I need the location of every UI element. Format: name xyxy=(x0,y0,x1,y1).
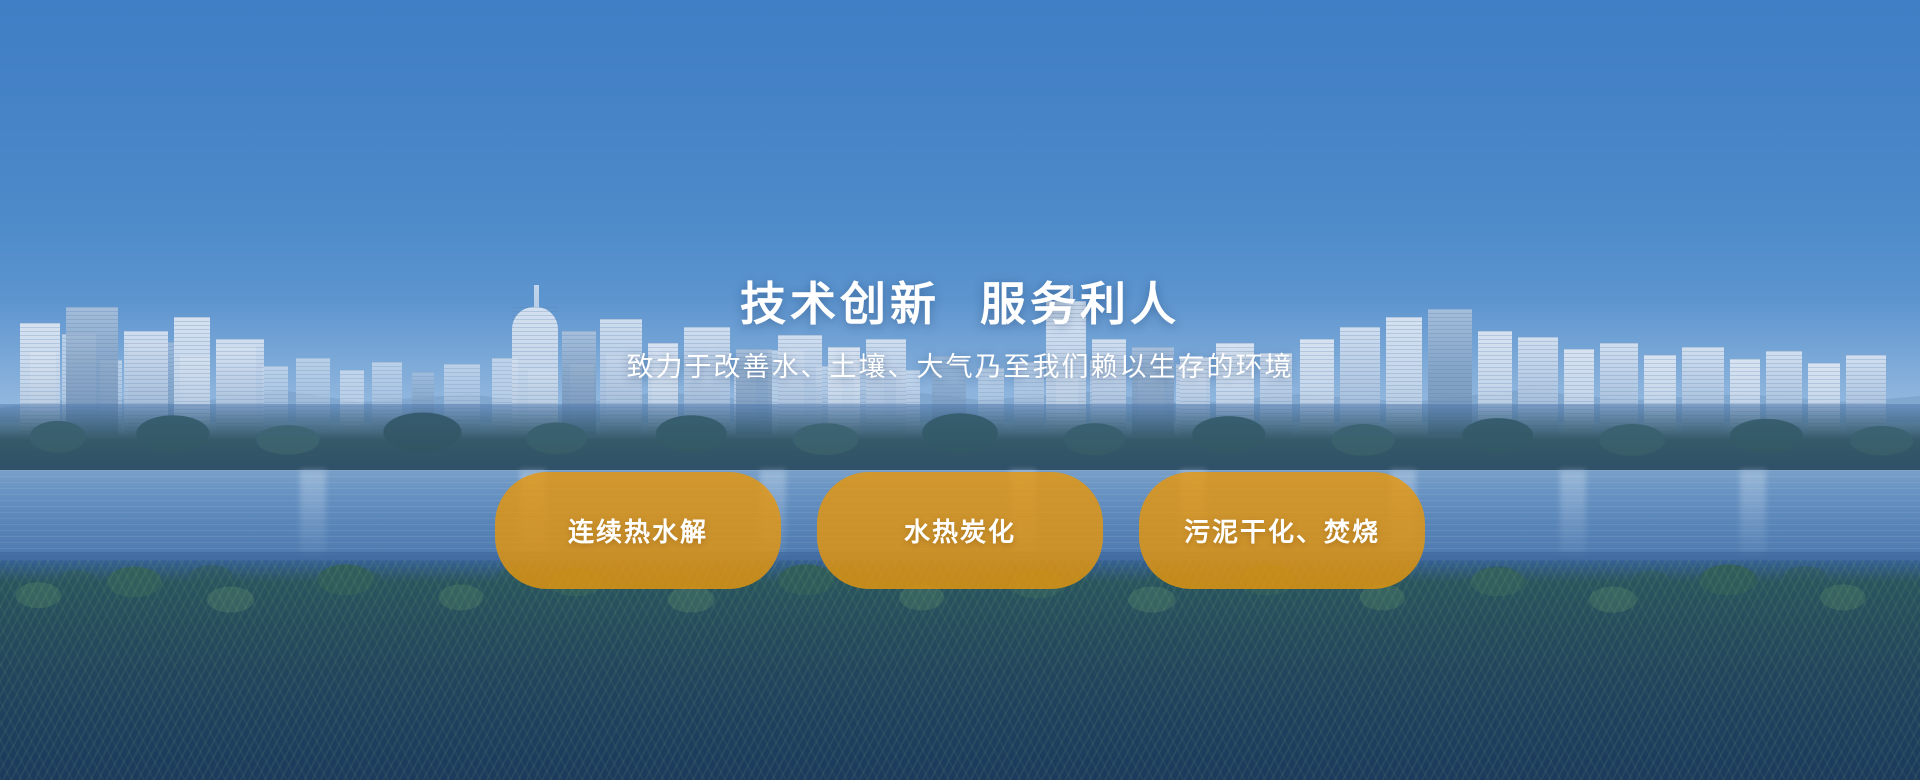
hero-title: 技术创新 服务利人 xyxy=(0,268,1920,334)
hero-content: 技术创新 服务利人 致力于改善水、土壤、大气乃至我们赖以生存的环境 连续热水解 … xyxy=(0,0,1920,780)
button-continuous-thermal-hydrolysis[interactable]: 连续热水解 xyxy=(495,472,781,589)
hero-subtitle: 致力于改善水、土壤、大气乃至我们赖以生存的环境 xyxy=(0,345,1920,384)
button-sludge-drying-incineration[interactable]: 污泥干化、焚烧 xyxy=(1139,472,1425,589)
hero-button-row: 连续热水解 水热炭化 污泥干化、焚烧 xyxy=(0,472,1920,589)
button-hydrothermal-carbonization[interactable]: 水热炭化 xyxy=(817,472,1103,589)
hero-banner: 技术创新 服务利人 致力于改善水、土壤、大气乃至我们赖以生存的环境 连续热水解 … xyxy=(0,0,1920,780)
